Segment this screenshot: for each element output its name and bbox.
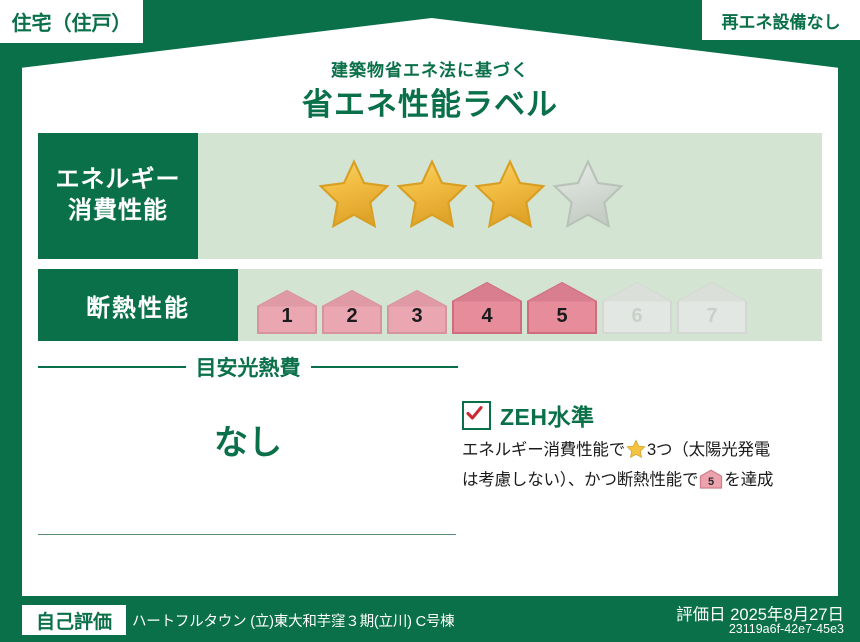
- zeh-desc-part-3: は考慮しない）、かつ断熱性能で: [462, 471, 698, 489]
- utility-cost-header: 目安光熱費: [38, 352, 458, 382]
- energy-performance-row: エネルギー 消費性能: [38, 133, 822, 259]
- zeh-header: ZEH水準: [462, 398, 822, 432]
- zeh-standard-block: ZEH水準 エネルギー消費性能で 3つ（太陽光発電 は考慮しない）、かつ断熱性能…: [462, 398, 822, 497]
- footer-bar: 自己評価 ハートフルタウン (立)東大和芋窪３期(立川) C号棟 評価日 202…: [0, 596, 860, 642]
- insulation-performance-row: 断熱性能 1234567: [38, 269, 822, 341]
- house-icon: 5: [699, 469, 723, 498]
- insulation-level-value: 7: [676, 305, 748, 328]
- page-title: 省エネ性能ラベル: [0, 79, 860, 124]
- utility-cost-title: 目安光熱費: [196, 352, 301, 382]
- energy-performance-value: [198, 133, 822, 259]
- star-rating: [317, 157, 625, 236]
- insulation-level-4: 4: [451, 275, 523, 335]
- evaluation-type-badge: 自己評価: [22, 605, 126, 635]
- zeh-desc-part-1: エネルギー消費性能で: [462, 441, 625, 459]
- insulation-level-7: 7: [676, 275, 748, 335]
- star-icon-filled: [317, 157, 391, 236]
- divider-right: [311, 366, 459, 368]
- insulation-performance-label-key: 断熱性能: [38, 269, 238, 341]
- insulation-level-value: 5: [526, 305, 598, 328]
- utility-cost-value: なし: [38, 415, 458, 464]
- star-icon: [626, 439, 646, 468]
- insulation-level-value: 4: [451, 305, 523, 328]
- insulation-level-scale: 1234567: [238, 269, 822, 341]
- energy-performance-label: 住宅（住戸） 再エネ設備なし 建築物省エネ法に基づく 省エネ性能ラベル エネルギ…: [0, 0, 860, 642]
- insulation-level-value: 2: [321, 305, 383, 328]
- insulation-level-2: 2: [321, 275, 383, 335]
- star-icon-empty: [551, 157, 625, 236]
- insulation-level-value: 3: [386, 305, 448, 328]
- star-icon-filled: [395, 157, 469, 236]
- energy-label-line-2: 消費性能: [68, 196, 168, 227]
- zeh-title: ZEH水準: [500, 398, 595, 432]
- zeh-desc-part-4: を達成: [724, 471, 773, 489]
- checkmark-icon: [462, 401, 491, 430]
- insulation-level-6: 6: [601, 275, 673, 335]
- property-name: ハートフルタウン (立)東大和芋窪３期(立川) C号棟: [132, 610, 454, 631]
- insulation-level-5: 5: [526, 275, 598, 335]
- insulation-level-1: 1: [256, 275, 318, 335]
- insulation-level-3: 3: [386, 275, 448, 335]
- renewable-equipment-badge: 再エネ設備なし: [702, 0, 860, 40]
- energy-label-line-1: エネルギー: [56, 165, 181, 196]
- category-badge: 住宅（住戸）: [0, 0, 143, 43]
- zeh-description: エネルギー消費性能で 3つ（太陽光発電 は考慮しない）、かつ断熱性能で 5 を達…: [462, 438, 822, 497]
- utility-cost-bottom-divider: [38, 534, 456, 535]
- divider-left: [38, 366, 186, 368]
- zeh-house-level: 5: [708, 476, 714, 488]
- zeh-desc-part-2: 3つ（太陽光発電: [647, 441, 770, 459]
- insulation-level-value: 6: [601, 305, 673, 328]
- energy-performance-label-key: エネルギー 消費性能: [38, 133, 198, 259]
- insulation-level-value: 1: [256, 305, 318, 328]
- title-subtitle: 建築物省エネ法に基づく: [0, 56, 860, 81]
- evaluation-id: 23119a6f-42e7-45e3: [729, 622, 844, 636]
- star-icon-filled: [473, 157, 547, 236]
